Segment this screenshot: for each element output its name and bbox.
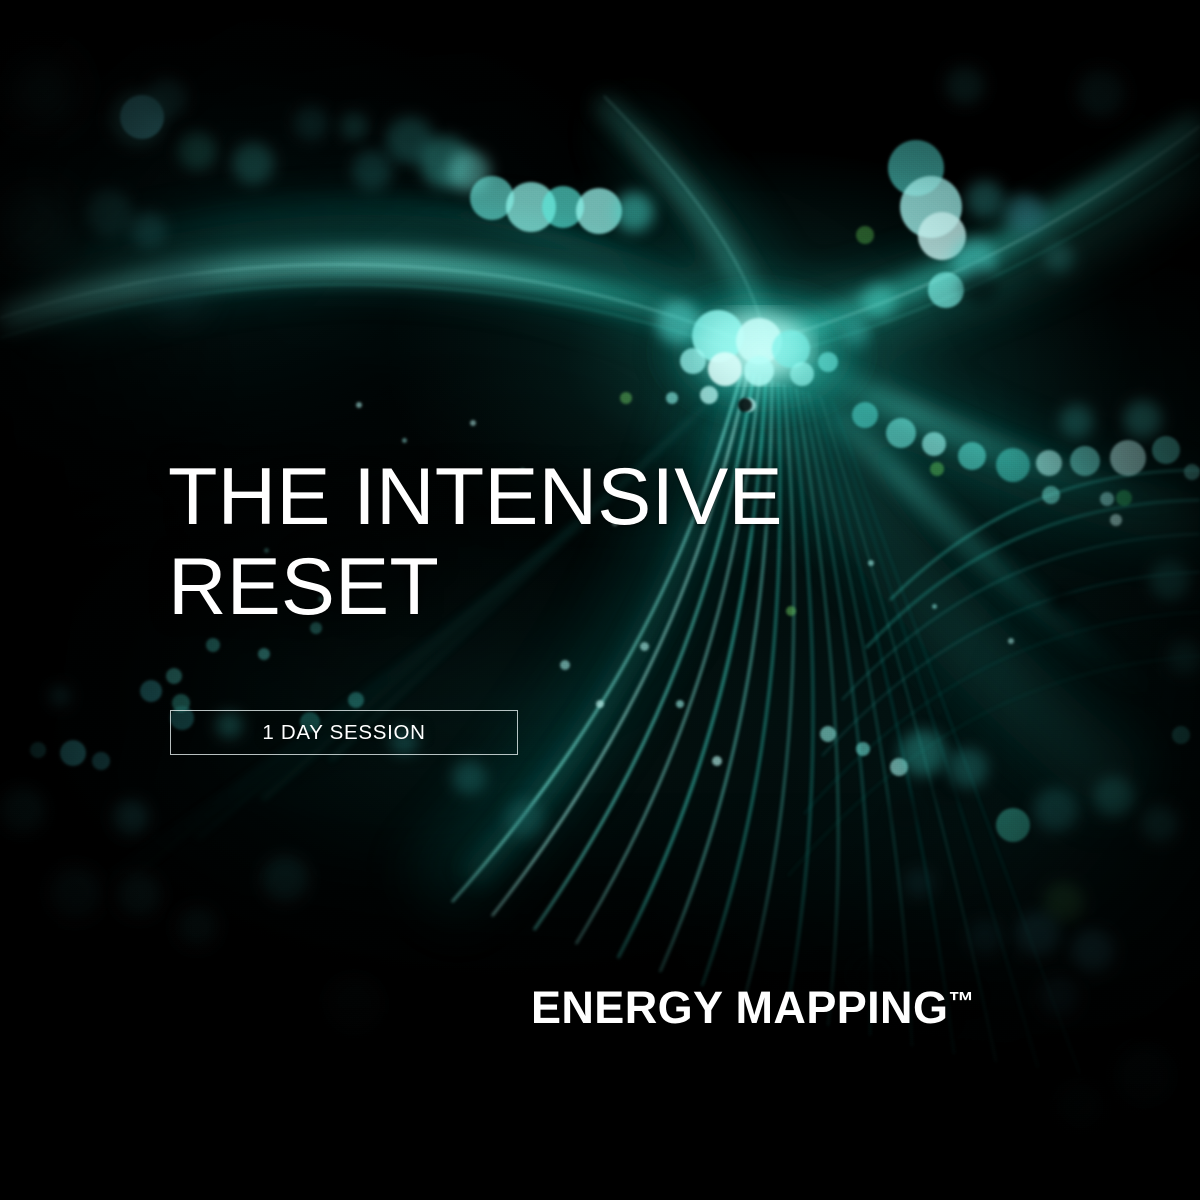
poster-content: THE INTENSIVE RESET 1 DAY SESSION ENERGY… — [0, 0, 1200, 1200]
session-badge-label: 1 DAY SESSION — [262, 721, 425, 745]
brand-name: ENERGY MAPPING — [531, 982, 948, 1033]
poster-canvas: THE INTENSIVE RESET 1 DAY SESSION ENERGY… — [0, 0, 1200, 1200]
session-badge[interactable]: 1 DAY SESSION — [170, 710, 518, 755]
brand-lockup: ENERGY MAPPING™ — [531, 985, 974, 1030]
trademark-symbol: ™ — [948, 986, 974, 1016]
page-title: THE INTENSIVE RESET — [168, 452, 783, 632]
